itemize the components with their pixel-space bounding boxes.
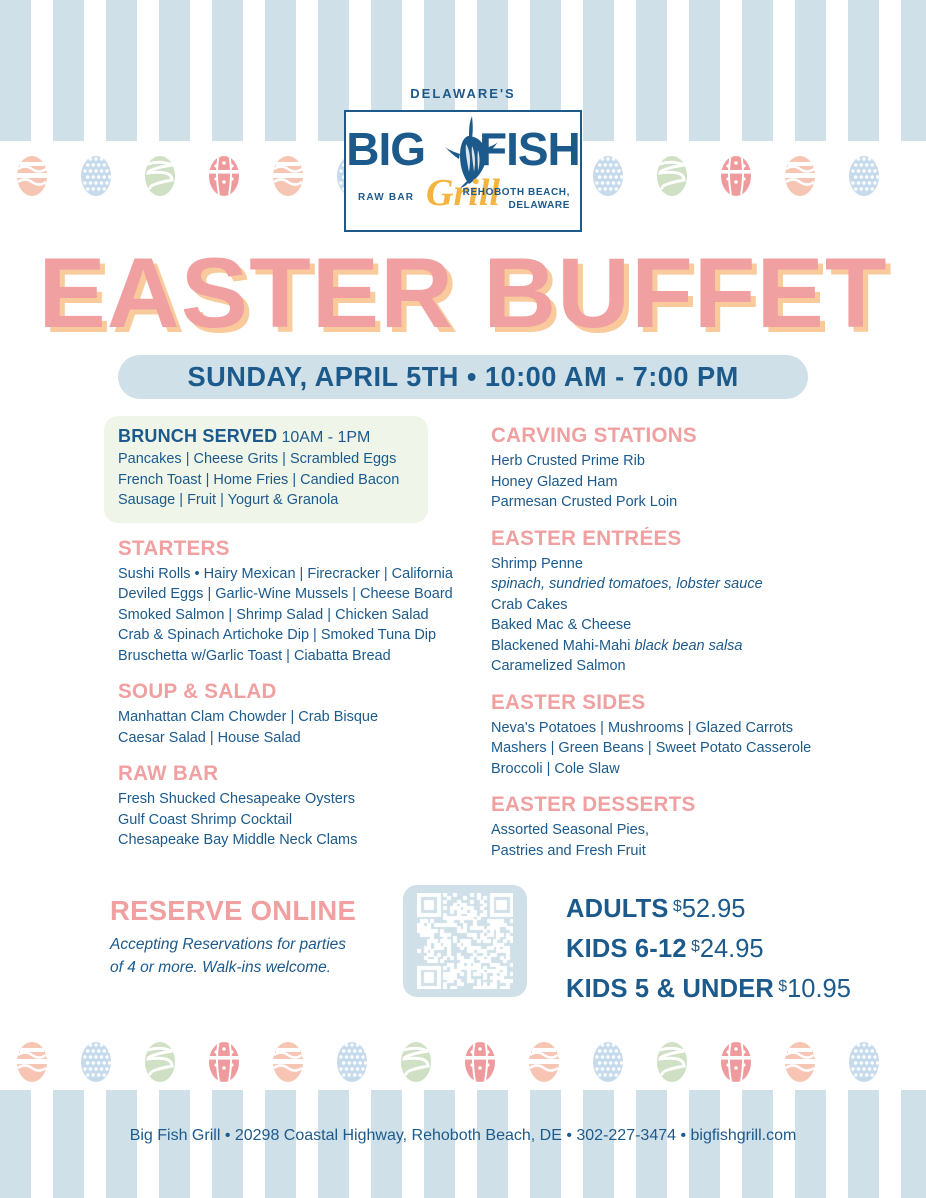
- price-label: ADULTS: [566, 893, 669, 923]
- menu-line: Assorted Seasonal Pies,: [491, 820, 841, 841]
- menu-line: Fresh Shucked Chesapeake Oysters: [118, 789, 473, 810]
- menu-line: Neva's Potatoes | Mushrooms | Glazed Car…: [491, 718, 841, 739]
- menu-line: Crab Cakes: [491, 595, 841, 616]
- easter-egg-icon: [270, 149, 306, 197]
- easter-egg-icon: [270, 1035, 306, 1083]
- menu-section-raw-bar: RAW BAR Fresh Shucked Chesapeake Oysters…: [118, 762, 473, 851]
- menu-section-starters: STARTERS Sushi Rolls • Hairy Mexican | F…: [118, 537, 473, 667]
- currency-symbol: $: [778, 978, 787, 995]
- menu-line: Honey Glazed Ham: [491, 472, 841, 493]
- reserve-online-block: RESERVE ONLINE Accepting Reservations fo…: [110, 895, 390, 979]
- easter-egg-icon: [590, 1035, 626, 1083]
- section-heading: SOUP & SALAD: [118, 680, 466, 704]
- menu-line: Caramelized Salmon: [491, 656, 841, 677]
- menu-section-carving-stations: CARVING STATIONS Herb Crusted Prime Rib …: [491, 424, 841, 513]
- price-row-kids-6-12: KIDS 6-12 $24.95: [566, 930, 860, 970]
- brunch-served-box: BRUNCH SERVED 10AM - 1PM Pancakes | Chee…: [104, 416, 428, 523]
- easter-egg-icon: [206, 1035, 242, 1083]
- easter-egg-icon: [526, 1035, 562, 1083]
- section-heading: EASTER SIDES: [491, 691, 834, 715]
- section-heading: EASTER DESSERTS: [491, 793, 834, 817]
- brunch-line: French Toast | Home Fries | Candied Baco…: [118, 470, 414, 491]
- pricing-list: ADULTS $52.95 KIDS 6-12 $24.95 KIDS 5 & …: [566, 890, 866, 1010]
- menu-section-easter-sides: EASTER SIDES Neva's Potatoes | Mushrooms…: [491, 691, 841, 780]
- section-heading: EASTER ENTRÉES: [491, 527, 834, 551]
- menu-line: Deviled Eggs | Garlic-Wine Mussels | Che…: [118, 584, 473, 605]
- menu-line: Baked Mac & Cheese: [491, 615, 841, 636]
- menu-columns: BRUNCH SERVED 10AM - 1PM Pancakes | Chee…: [0, 424, 926, 874]
- menu-column-right: CARVING STATIONS Herb Crusted Prime Rib …: [491, 424, 841, 875]
- easter-egg-icon: [718, 1035, 754, 1083]
- reserve-note-line1: Accepting Reservations for parties: [110, 933, 390, 956]
- menu-section-easter-desserts: EASTER DESSERTS Assorted Seasonal Pies, …: [491, 793, 841, 861]
- logo-location-line2: DELAWARE: [509, 200, 570, 211]
- qr-code-container[interactable]: [403, 885, 527, 997]
- easter-egg-icon: [782, 1035, 818, 1083]
- reservation-pricing-area: RESERVE ONLINE Accepting Reservations fo…: [0, 885, 926, 1010]
- section-heading: CARVING STATIONS: [491, 424, 834, 448]
- easter-egg-icon: [782, 149, 818, 197]
- easter-egg-icon: [590, 149, 626, 197]
- easter-egg-icon: [846, 1035, 882, 1083]
- menu-line: Blackened Mahi-Mahi black bean salsa: [491, 636, 841, 657]
- menu-line: Shrimp Penne: [491, 554, 841, 575]
- amount-value: 24.95: [700, 933, 764, 963]
- menu-line: Crab & Spinach Artichoke Dip | Smoked Tu…: [118, 625, 473, 646]
- date-time-banner: SUNDAY, APRIL 5TH • 10:00 AM - 7:00 PM: [118, 355, 808, 399]
- menu-line-description: spinach, sundried tomatoes, lobster sauc…: [491, 574, 841, 595]
- menu-column-left: BRUNCH SERVED 10AM - 1PM Pancakes | Chee…: [118, 424, 473, 865]
- page-title: EASTER BUFFET: [0, 243, 926, 342]
- menu-line: Chesapeake Bay Middle Neck Clams: [118, 830, 473, 851]
- easter-egg-icon: [654, 149, 690, 197]
- easter-egg-icon: [654, 1035, 690, 1083]
- easter-egg-icon: [142, 149, 178, 197]
- menu-line: Parmesan Crusted Pork Loin: [491, 492, 841, 513]
- easter-egg-icon: [14, 149, 50, 197]
- menu-section-easter-entrees: EASTER ENTRÉES Shrimp Penne spinach, sun…: [491, 527, 841, 677]
- menu-line: Herb Crusted Prime Rib: [491, 451, 841, 472]
- menu-line: Smoked Salmon | Shrimp Salad | Chicken S…: [118, 605, 473, 626]
- easter-egg-icon: [142, 1035, 178, 1083]
- section-heading: RAW BAR: [118, 762, 466, 786]
- brunch-heading: BRUNCH SERVED 10AM - 1PM: [118, 426, 414, 447]
- price-row-adults: ADULTS $52.95: [566, 890, 860, 930]
- price-row-kids-5-under: KIDS 5 & UNDER $10.95: [566, 970, 860, 1010]
- reserve-note-line2: of 4 or more. Walk-ins welcome.: [110, 956, 390, 979]
- section-heading: STARTERS: [118, 537, 466, 561]
- footer-contact-info: Big Fish Grill • 20298 Coastal Highway, …: [0, 1127, 926, 1145]
- easter-egg-icon: [14, 1035, 50, 1083]
- easter-egg-icon: [206, 149, 242, 197]
- logo-raw-bar-text: RAW BAR: [358, 192, 414, 203]
- menu-line: Pastries and Fresh Fruit: [491, 841, 841, 862]
- price-label: KIDS 6-12: [566, 933, 687, 963]
- brunch-line: Pancakes | Cheese Grits | Scrambled Eggs: [118, 449, 414, 470]
- easter-egg-icon: [462, 1035, 498, 1083]
- date-time-text: SUNDAY, APRIL 5TH • 10:00 AM - 7:00 PM: [187, 361, 738, 393]
- menu-line: Bruschetta w/Garlic Toast | Ciabatta Bre…: [118, 646, 473, 667]
- easter-egg-icon: [398, 1035, 434, 1083]
- currency-symbol: $: [691, 938, 700, 955]
- menu-line: Gulf Coast Shrimp Cocktail: [118, 810, 473, 831]
- menu-section-soup-salad: SOUP & SALAD Manhattan Clam Chowder | Cr…: [118, 680, 473, 748]
- qr-code-icon[interactable]: [417, 893, 513, 989]
- price-amount: $24.95: [691, 933, 764, 963]
- easter-egg-icon: [78, 149, 114, 197]
- big-fish-grill-logo: DELAWARE'S BIGFISH Grill RAW BAR REHOBOT…: [344, 110, 582, 232]
- logo-location-text: REHOBOTH BEACH, DELAWARE: [463, 186, 570, 212]
- logo-location-line1: REHOBOTH BEACH,: [463, 187, 570, 198]
- menu-line-description: black bean salsa: [634, 638, 742, 654]
- price-amount: $52.95: [673, 893, 746, 923]
- menu-line: Mashers | Green Beans | Sweet Potato Cas…: [491, 738, 841, 759]
- menu-line: Sushi Rolls • Hairy Mexican | Firecracke…: [118, 564, 473, 585]
- amount-value: 52.95: [682, 893, 746, 923]
- easter-egg-icon: [718, 149, 754, 197]
- price-label: KIDS 5 & UNDER: [566, 973, 774, 1003]
- logo-delawares-text: DELAWARE'S: [346, 86, 580, 101]
- menu-line: Caesar Salad | House Salad: [118, 728, 473, 749]
- brunch-heading-label: BRUNCH SERVED: [118, 426, 277, 446]
- brunch-line: Sausage | Fruit | Yogurt & Granola: [118, 490, 414, 511]
- easter-egg-icon: [78, 1035, 114, 1083]
- amount-value: 10.95: [787, 973, 851, 1003]
- easter-egg-icon: [846, 149, 882, 197]
- price-amount: $10.95: [778, 973, 851, 1003]
- menu-line: Broccoli | Cole Slaw: [491, 759, 841, 780]
- menu-line: Manhattan Clam Chowder | Crab Bisque: [118, 707, 473, 728]
- currency-symbol: $: [673, 898, 682, 915]
- reserve-online-heading: RESERVE ONLINE: [110, 895, 384, 927]
- easter-buffet-flyer: DELAWARE'S BIGFISH Grill RAW BAR REHOBOT…: [0, 0, 926, 1198]
- bottom-easter-egg-band: [0, 1028, 926, 1090]
- brunch-hours: 10AM - 1PM: [281, 429, 370, 446]
- easter-egg-icon: [334, 1035, 370, 1083]
- logo-big-text: BIG: [346, 123, 425, 175]
